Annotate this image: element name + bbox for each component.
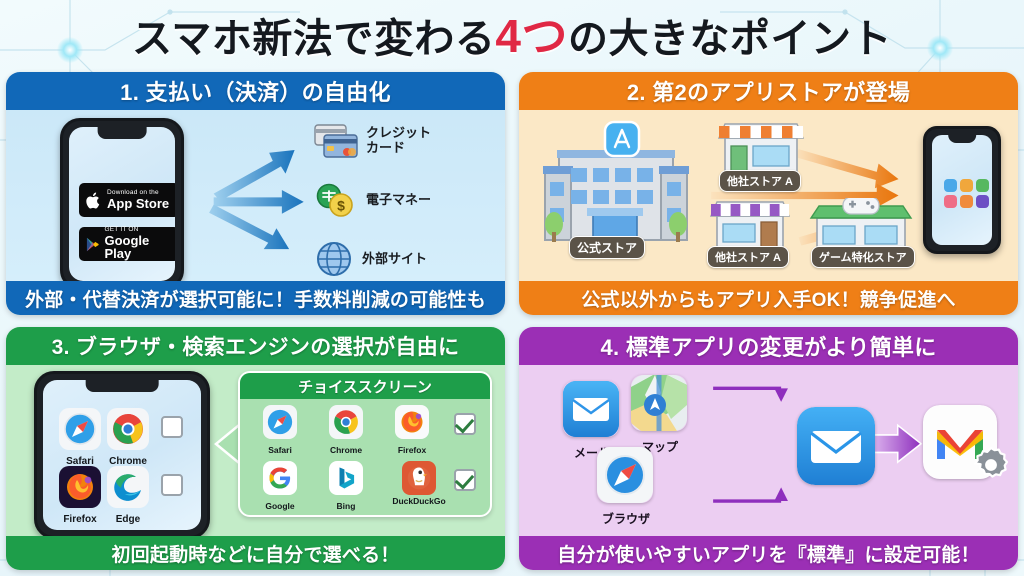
payment-option-external-site-label: 外部サイト bbox=[362, 252, 427, 267]
mail-app-icon bbox=[797, 407, 875, 485]
chrome-icon bbox=[107, 408, 149, 450]
panel-3-footer: 初回起動時などに自分で選べる！ bbox=[6, 536, 505, 570]
google-play-icon bbox=[86, 236, 99, 253]
shop-orange-awning-icon bbox=[715, 118, 807, 176]
choice-name-chrome: Chrome bbox=[326, 445, 366, 455]
google-play-badge-large: Google Play bbox=[104, 234, 172, 261]
panel-payment-freedom: 1. 支払い（決済）の自由化 bbox=[6, 72, 505, 315]
browser-cell-chrome[interactable]: Chrome bbox=[105, 408, 151, 467]
choice-item-google[interactable]: Google bbox=[260, 461, 300, 511]
browser-name-firefox: Firefox bbox=[57, 514, 103, 525]
google-play-badge[interactable]: GET IT ON Google Play bbox=[79, 227, 175, 261]
panel-grid: 1. 支払い（決済）の自由化 bbox=[6, 72, 1018, 570]
safari-app-icon bbox=[597, 447, 653, 503]
app-icon-green bbox=[976, 179, 989, 192]
game-store: ゲーム特化ストア bbox=[809, 198, 919, 262]
payment-option-credit-card: クレジット カード bbox=[314, 124, 431, 158]
panel-browser-choice: 3. ブラウザ・検索エンジンの選択が自由に Safari bbox=[6, 327, 505, 570]
phone-notch bbox=[98, 127, 147, 139]
globe-icon bbox=[314, 239, 354, 279]
payment-option-emoney: $ 電子マネー bbox=[314, 183, 431, 217]
choice-screen-title: チョイススクリーン bbox=[240, 373, 490, 399]
title-text-after: の大きなポイント bbox=[568, 17, 892, 61]
app-icon-orange bbox=[960, 179, 973, 192]
panel-4-heading: 4. 標準アプリの変更がより簡単に bbox=[519, 327, 1018, 365]
choice-name-duckduckgo: DuckDuckGo bbox=[390, 496, 448, 506]
panel-1-heading: 1. 支払い（決済）の自由化 bbox=[6, 72, 505, 110]
choice-name-safari: Safari bbox=[260, 445, 300, 455]
panel-1-body: Download on the App Store GET IT ON bbox=[6, 110, 505, 281]
choice-checkbox-row1[interactable] bbox=[454, 413, 476, 435]
panel-1-phone-screen: Download on the App Store GET IT ON bbox=[69, 127, 175, 281]
game-store-icon bbox=[809, 198, 913, 252]
firefox-icon bbox=[59, 466, 101, 508]
page-title: スマホ新法で変わる4つの大きなポイント bbox=[0, 4, 1024, 68]
panel-4-footer: 自分が使いやすいアプリを『標準』に設定可能！ bbox=[519, 536, 1018, 570]
panel-3-body: Safari Chrome bbox=[6, 365, 505, 536]
apple-icon bbox=[86, 191, 102, 210]
phone-notch bbox=[948, 135, 976, 143]
safari-icon bbox=[263, 405, 297, 439]
panel-3-heading: 3. ブラウザ・検索エンジンの選択が自由に bbox=[6, 327, 505, 365]
coins-icon: $ bbox=[314, 183, 358, 217]
google-icon bbox=[263, 461, 297, 495]
choice-item-chrome[interactable]: Chrome bbox=[326, 405, 366, 455]
payment-option-emoney-label: 電子マネー bbox=[366, 193, 431, 208]
official-store-label: 公式ストア bbox=[569, 236, 645, 259]
payment-option-external-site: 外部サイト bbox=[314, 239, 427, 279]
panel-2-footer: 公式以外からもアプリ入手OK！競争促進へ bbox=[519, 281, 1018, 315]
browser-cell-firefox[interactable]: Firefox bbox=[57, 466, 103, 525]
safari-icon bbox=[59, 408, 101, 450]
new-default-app bbox=[923, 405, 997, 484]
app-icon-amber bbox=[960, 195, 973, 208]
panel-default-apps: 4. 標準アプリの変更がより簡単に bbox=[519, 327, 1018, 570]
panel-alternative-app-stores: 2. 第2のアプリストアが登場 bbox=[519, 72, 1018, 315]
app-store-badge-large: App Store bbox=[107, 197, 169, 211]
choice-item-safari[interactable]: Safari bbox=[260, 405, 300, 455]
credit-card-label-line2: カード bbox=[366, 140, 405, 155]
shop-purple-awning-icon bbox=[707, 196, 793, 252]
panel-2-phone bbox=[923, 126, 1001, 254]
title-text-before: スマホ新法で変わる bbox=[132, 17, 495, 61]
choice-name-google: Google bbox=[260, 501, 300, 511]
title-highlight: 4つ bbox=[495, 10, 568, 62]
panel-1-phone: Download on the App Store GET IT ON bbox=[60, 118, 184, 281]
firefox-icon bbox=[395, 405, 429, 439]
panel-3-phone: Safari Chrome bbox=[34, 371, 210, 536]
choice-item-firefox[interactable]: Firefox bbox=[392, 405, 432, 455]
bing-icon bbox=[329, 461, 363, 495]
choice-name-firefox: Firefox bbox=[392, 445, 432, 455]
official-store: 公式ストア bbox=[541, 120, 691, 260]
edge-icon bbox=[107, 466, 149, 508]
panel-1-footer: 外部・代替決済が選択可能に！手数料削減の可能性も bbox=[6, 281, 505, 315]
mail-app-icon bbox=[563, 381, 619, 437]
third-party-store-a-top-label: 他社ストア A bbox=[719, 170, 801, 192]
phone-notch bbox=[86, 380, 159, 392]
third-party-store-a-top: 他社ストア A bbox=[715, 118, 815, 188]
browser-checkbox-row2[interactable] bbox=[161, 474, 183, 496]
source-app-browser-label: ブラウザ bbox=[597, 510, 655, 527]
gear-icon bbox=[969, 445, 1013, 489]
panel-2-heading: 2. 第2のアプリストアが登場 bbox=[519, 72, 1018, 110]
credit-card-icon bbox=[314, 124, 358, 158]
current-default-app bbox=[797, 407, 875, 490]
maps-app-icon bbox=[631, 375, 687, 431]
choice-item-bing[interactable]: Bing bbox=[326, 461, 366, 511]
panel-3-phone-screen: Safari Chrome bbox=[43, 380, 201, 530]
chrome-icon bbox=[329, 405, 363, 439]
panel-2-app-grid bbox=[944, 179, 989, 208]
svg-text:$: $ bbox=[337, 198, 345, 214]
official-store-building-icon bbox=[541, 120, 691, 250]
choice-item-duckduckgo[interactable]: DuckDuckGo bbox=[390, 461, 448, 506]
panel-2-body: 公式ストア 他社ストア A bbox=[519, 110, 1018, 281]
credit-card-label-line1: クレジット bbox=[366, 125, 431, 140]
browser-cell-safari[interactable]: Safari bbox=[57, 408, 103, 467]
choice-screen: チョイススクリーン Safari bbox=[238, 371, 492, 517]
app-store-badge[interactable]: Download on the App Store bbox=[79, 183, 175, 217]
source-app-maps[interactable]: マップ bbox=[631, 375, 689, 455]
app-icon-store bbox=[944, 179, 957, 192]
game-store-label: ゲーム特化ストア bbox=[811, 246, 915, 268]
third-party-store-a-bottom: 他社ストア A bbox=[707, 196, 803, 262]
choice-checkbox-row2[interactable] bbox=[454, 469, 476, 491]
panel-2-phone-screen bbox=[932, 135, 992, 245]
duckduckgo-icon bbox=[402, 461, 436, 495]
panel-4-body: メール マップ bbox=[519, 365, 1018, 536]
browser-cell-edge[interactable]: Edge bbox=[105, 466, 151, 525]
payment-option-credit-card-label: クレジット カード bbox=[366, 126, 431, 156]
app-icon-purple bbox=[976, 195, 989, 208]
app-icon-pink bbox=[944, 195, 957, 208]
third-party-store-a-bottom-label: 他社ストア A bbox=[707, 246, 789, 268]
choice-name-bing: Bing bbox=[326, 501, 366, 511]
source-app-browser[interactable]: ブラウザ bbox=[597, 447, 655, 527]
browser-name-edge: Edge bbox=[105, 514, 151, 525]
browser-checkbox-row1[interactable] bbox=[161, 416, 183, 438]
